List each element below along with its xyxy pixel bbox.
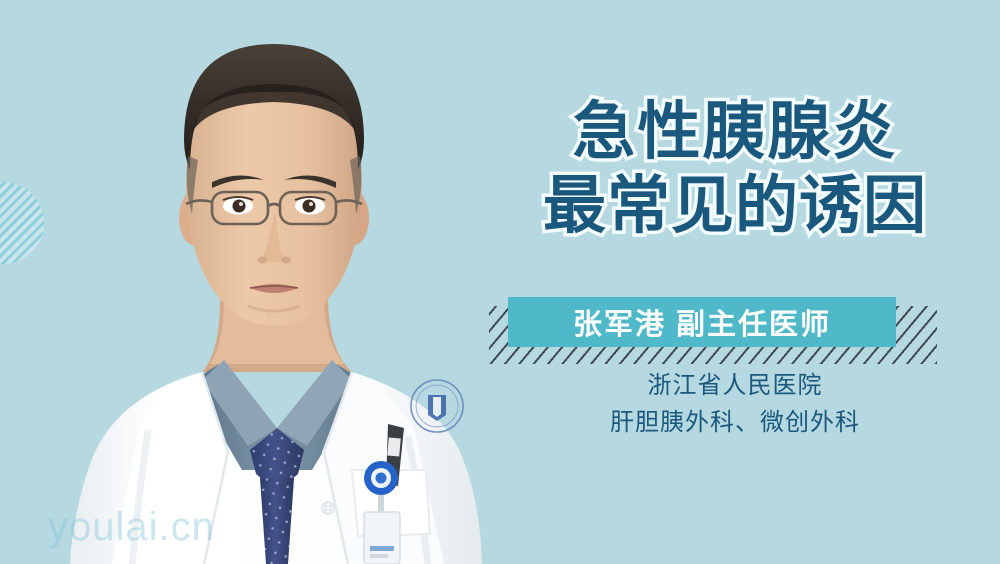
doctor-name-title-label: 张军港 副主任医师 — [573, 301, 831, 343]
affiliation-block: 浙江省人民医院 肝胆胰外科、微创外科 — [505, 368, 965, 441]
doctor-portrait-image — [52, 0, 492, 564]
department-label: 肝胆胰外科、微创外科 — [505, 405, 965, 442]
promo-card: 急性胰腺炎 最常见的诱因 张军港 副主任医师 浙江省人民医院 肝胆胰外科、微创外… — [0, 0, 1000, 564]
headline: 急性胰腺炎 最常见的诱因 — [505, 96, 965, 243]
striped-circle-icon — [0, 182, 44, 264]
hospital-label: 浙江省人民医院 — [505, 368, 965, 405]
headline-line-1: 急性胰腺炎 — [505, 96, 965, 170]
doctor-name-banner: 张军港 副主任医师 — [508, 297, 896, 347]
headline-line-2: 最常见的诱因 — [505, 170, 965, 244]
